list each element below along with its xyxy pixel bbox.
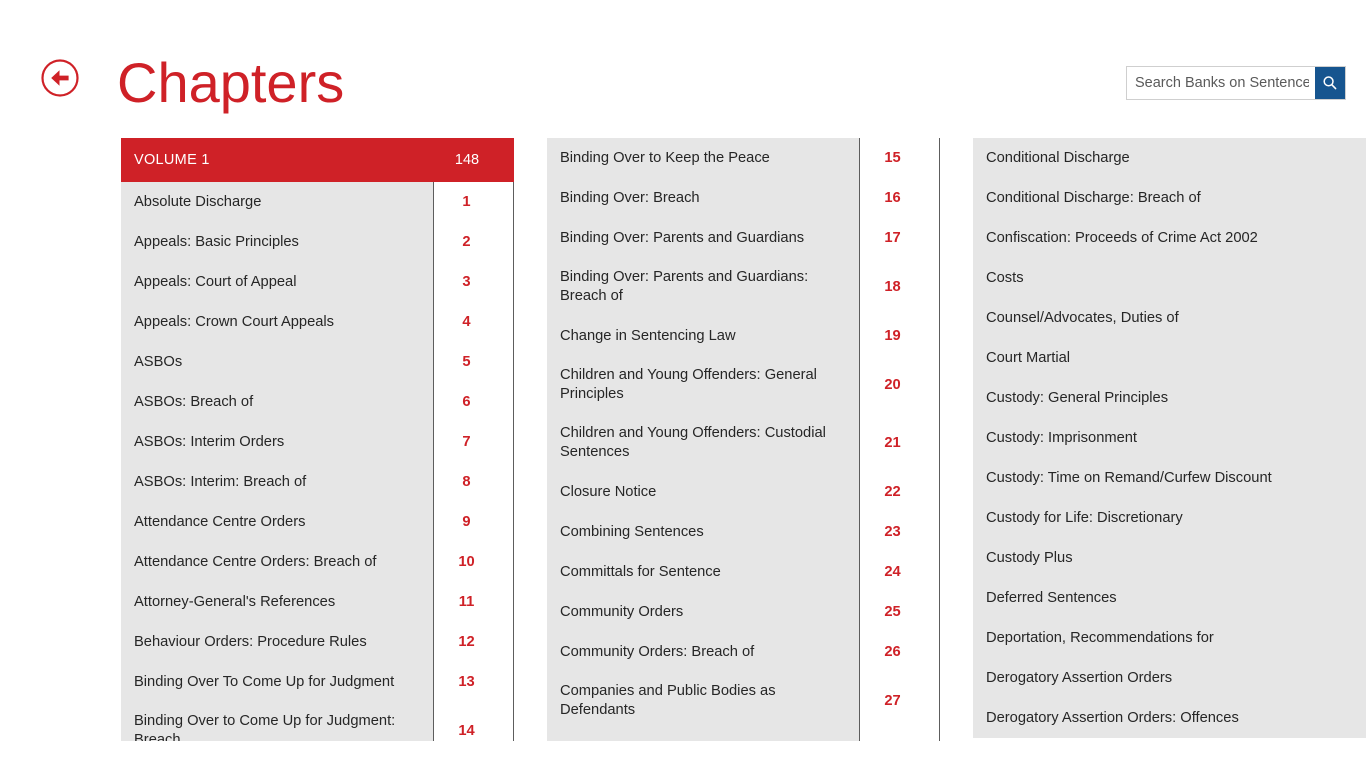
chapter-number: 17 [860,218,940,258]
list-item[interactable]: ASBOs: Interim Orders7 [121,422,514,462]
list-item[interactable]: Appeals: Court of Appeal3 [121,262,514,302]
chapter-title: Binding Over: Parents and Guardians [547,218,860,258]
search-box[interactable] [1126,66,1346,100]
list-item[interactable]: Binding Over: Parents and Guardians17 [547,218,940,258]
list-item[interactable]: Binding Over: Breach16 [547,178,940,218]
list-item[interactable]: Custody: Imprisonment [973,418,1366,458]
chapter-number: 1 [434,182,514,222]
volume-header[interactable]: VOLUME 1 148 [121,138,514,182]
list-item[interactable]: Binding Over to Keep the Peace15 [547,138,940,178]
list-item[interactable]: Compensation Orders28 [547,730,940,741]
chapter-title: Community Orders: Breach of [547,632,860,672]
list-item[interactable]: Absolute Discharge1 [121,182,514,222]
list-item[interactable]: Deportation, Recommendations for [973,618,1366,658]
list-item[interactable]: Combining Sentences23 [547,512,940,552]
page-title: Chapters [117,48,344,118]
chapter-number: 8 [434,462,514,502]
arrow-left-circle-icon [40,58,80,98]
list-item[interactable]: Derogatory Assertion Orders: Offences [973,698,1366,738]
chapter-title: Appeals: Court of Appeal [121,262,434,302]
list-item[interactable]: Children and Young Offenders: Custodial … [547,414,940,472]
chapter-number: 19 [860,316,940,356]
chapter-title: Derogatory Assertion Orders [973,658,1366,698]
list-item[interactable]: Closure Notice22 [547,472,940,512]
search-icon [1321,74,1339,92]
list-item[interactable]: Custody for Life: Discretionary [973,498,1366,538]
chapter-title: Binding Over to Come Up for Judgment: Br… [121,702,434,741]
volume-header-count: 148 [434,152,514,168]
list-item[interactable]: Attendance Centre Orders: Breach of10 [121,542,514,582]
chapter-title: Behaviour Orders: Procedure Rules [121,622,434,662]
chapter-title: ASBOs: Interim Orders [121,422,434,462]
search-button[interactable] [1315,67,1345,99]
chapter-title: Conditional Discharge [973,138,1366,178]
list-item[interactable]: Children and Young Offenders: General Pr… [547,356,940,414]
list-item[interactable]: ASBOs: Breach of6 [121,382,514,422]
chapter-list-3[interactable]: Conditional Discharge Conditional Discha… [973,138,1366,741]
list-item[interactable]: ASBOs5 [121,342,514,382]
chapter-title: Custody Plus [973,538,1366,578]
list-item[interactable]: ASBOs: Interim: Breach of8 [121,462,514,502]
list-item[interactable]: Appeals: Basic Principles2 [121,222,514,262]
chapter-title: Change in Sentencing Law [547,316,860,356]
chapter-title: Costs [973,258,1366,298]
chapter-title: Community Orders [547,592,860,632]
chapter-title: Attendance Centre Orders: Breach of [121,542,434,582]
chapter-number: 18 [860,258,940,316]
chapter-column-1: VOLUME 1 148 Absolute Discharge1 Appeals… [121,138,514,743]
chapter-title: Children and Young Offenders: Custodial … [547,414,860,472]
chapter-title: Custody for Life: Discretionary [973,498,1366,538]
chapter-title: ASBOs: Interim: Breach of [121,462,434,502]
list-item[interactable]: Behaviour Orders: Procedure Rules12 [121,622,514,662]
chapter-title: Binding Over: Parents and Guardians: Bre… [547,258,860,316]
list-item[interactable]: Binding Over: Parents and Guardians: Bre… [547,258,940,316]
chapter-title: ASBOs: Breach of [121,382,434,422]
chapter-number: 14 [434,702,514,741]
search-input[interactable] [1127,67,1315,99]
chapter-title: Children and Young Offenders: General Pr… [547,356,860,414]
chapter-number: 26 [860,632,940,672]
list-item[interactable]: Costs [973,258,1366,298]
page-header: Chapters [0,0,1366,138]
list-item[interactable]: Deferred Sentences [973,578,1366,618]
chapter-number: 2 [434,222,514,262]
list-item[interactable]: Court Martial [973,338,1366,378]
chapter-number: 15 [860,138,940,178]
chapter-title: Court Martial [973,338,1366,378]
list-item[interactable]: Binding Over To Come Up for Judgment13 [121,662,514,702]
list-item[interactable]: Attorney-General's References11 [121,582,514,622]
chapter-title: Attorney-General's References [121,582,434,622]
chapter-title: Confiscation: Proceeds of Crime Act 2002 [973,218,1366,258]
list-item[interactable]: Counsel/Advocates, Duties of [973,298,1366,338]
chapter-title: Companies and Public Bodies as Defendant… [547,672,860,730]
chapter-title: Binding Over To Come Up for Judgment [121,662,434,702]
list-item[interactable]: Derogatory Assertion Orders [973,658,1366,698]
chapter-number: 7 [434,422,514,462]
chapter-number: 23 [860,512,940,552]
list-item[interactable]: Conditional Discharge [973,138,1366,178]
chapter-title: Binding Over to Keep the Peace [547,138,860,178]
list-item[interactable]: Custody: Time on Remand/Curfew Discount [973,458,1366,498]
chapter-number: 28 [860,730,940,741]
chapter-title: Binding Over: Breach [547,178,860,218]
chapter-title: Committals for Sentence [547,552,860,592]
list-item[interactable]: Companies and Public Bodies as Defendant… [547,672,940,730]
chapter-title: Deferred Sentences [973,578,1366,618]
list-item[interactable]: Custody: General Principles [973,378,1366,418]
list-item[interactable]: Community Orders25 [547,592,940,632]
chapter-number: 16 [860,178,940,218]
chapter-number: 3 [434,262,514,302]
list-item[interactable]: Confiscation: Proceeds of Crime Act 2002 [973,218,1366,258]
chapter-number: 21 [860,414,940,472]
chapter-title: Derogatory Assertion Orders: Offences [973,698,1366,738]
list-item[interactable]: Custody Plus [973,538,1366,578]
chapter-number: 5 [434,342,514,382]
chapter-title: Conditional Discharge: Breach of [973,178,1366,218]
chapter-title: Counsel/Advocates, Duties of [973,298,1366,338]
chapter-number: 9 [434,502,514,542]
chapter-title: Appeals: Crown Court Appeals [121,302,434,342]
chapter-number: 24 [860,552,940,592]
chapter-number: 12 [434,622,514,662]
volume-header-label: VOLUME 1 [121,152,434,168]
chapter-number: 11 [434,582,514,622]
chapter-number: 22 [860,472,940,512]
chapter-title: Combining Sentences [547,512,860,552]
chapter-column-2: Binding Over to Keep the Peace15 Binding… [547,138,940,743]
list-item[interactable]: Community Orders: Breach of26 [547,632,940,672]
chapter-number: 27 [860,672,940,730]
chapter-title: Custody: Imprisonment [973,418,1366,458]
chapter-column-3: Conditional Discharge Conditional Discha… [973,138,1366,743]
list-item[interactable]: Attendance Centre Orders9 [121,502,514,542]
chapter-title: Absolute Discharge [121,182,434,222]
chapter-number: 10 [434,542,514,582]
chapter-columns: VOLUME 1 148 Absolute Discharge1 Appeals… [0,138,1366,743]
chapter-title: Appeals: Basic Principles [121,222,434,262]
list-item[interactable]: Change in Sentencing Law19 [547,316,940,356]
chapter-title: Custody: General Principles [973,378,1366,418]
chapter-number: 6 [434,382,514,422]
chapter-title: Compensation Orders [547,730,860,741]
chapter-title: Custody: Time on Remand/Curfew Discount [973,458,1366,498]
list-item[interactable]: Binding Over to Come Up for Judgment: Br… [121,702,514,741]
back-button[interactable] [40,58,80,98]
chapter-list-2[interactable]: Binding Over to Keep the Peace15 Binding… [547,138,940,741]
chapter-list-1[interactable]: VOLUME 1 148 Absolute Discharge1 Appeals… [121,138,514,741]
list-item[interactable]: Conditional Discharge: Breach of [973,178,1366,218]
chapter-number: 13 [434,662,514,702]
chapter-number: 20 [860,356,940,414]
chapter-title: Attendance Centre Orders [121,502,434,542]
chapter-number: 25 [860,592,940,632]
chapter-title: Deportation, Recommendations for [973,618,1366,658]
list-item[interactable]: Committals for Sentence24 [547,552,940,592]
chapter-number: 4 [434,302,514,342]
list-item[interactable]: Appeals: Crown Court Appeals4 [121,302,514,342]
chapter-title: Closure Notice [547,472,860,512]
chapter-title: ASBOs [121,342,434,382]
